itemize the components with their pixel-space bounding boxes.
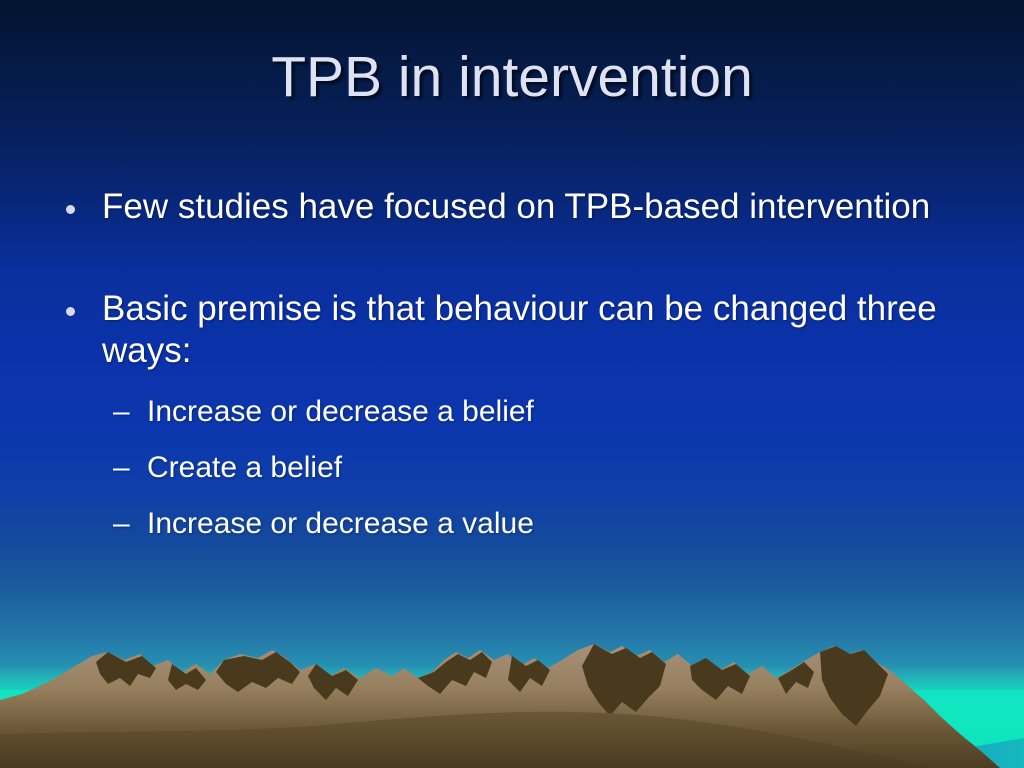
dash-bullet-icon: – <box>113 496 130 552</box>
sub-bullet-item-3: – Increase or decrease a value <box>113 496 968 552</box>
page-title: TPB in intervention <box>0 48 1024 108</box>
dash-bullet-icon: – <box>113 384 130 440</box>
bullet-spacer <box>56 228 968 288</box>
sub-bullet-item-2: – Create a belief <box>113 440 968 496</box>
mountain-range-graphic <box>0 638 1024 768</box>
slide-body: Few studies have focused on TPB-based in… <box>56 186 968 552</box>
bullet-item-2: Basic premise is that behaviour can be c… <box>56 288 968 372</box>
dash-bullet-icon: – <box>113 440 130 496</box>
sub-bullet-item-2-text: Create a belief <box>147 451 342 484</box>
sub-bullet-item-3-text: Increase or decrease a value <box>147 507 534 540</box>
dot-bullet-icon <box>66 288 77 330</box>
sub-bullet-list: – Increase or decrease a belief – Create… <box>56 384 968 552</box>
dot-bullet-icon <box>66 186 77 228</box>
sub-bullet-item-1: – Increase or decrease a belief <box>113 384 968 440</box>
bullet-item-1: Few studies have focused on TPB-based in… <box>56 186 968 228</box>
sub-bullet-item-1-text: Increase or decrease a belief <box>147 395 534 428</box>
bullet-item-1-text: Few studies have focused on TPB-based in… <box>102 187 930 226</box>
slide: TPB in intervention Few studies have foc… <box>0 0 1024 768</box>
bullet-item-2-text: Basic premise is that behaviour can be c… <box>102 289 937 370</box>
